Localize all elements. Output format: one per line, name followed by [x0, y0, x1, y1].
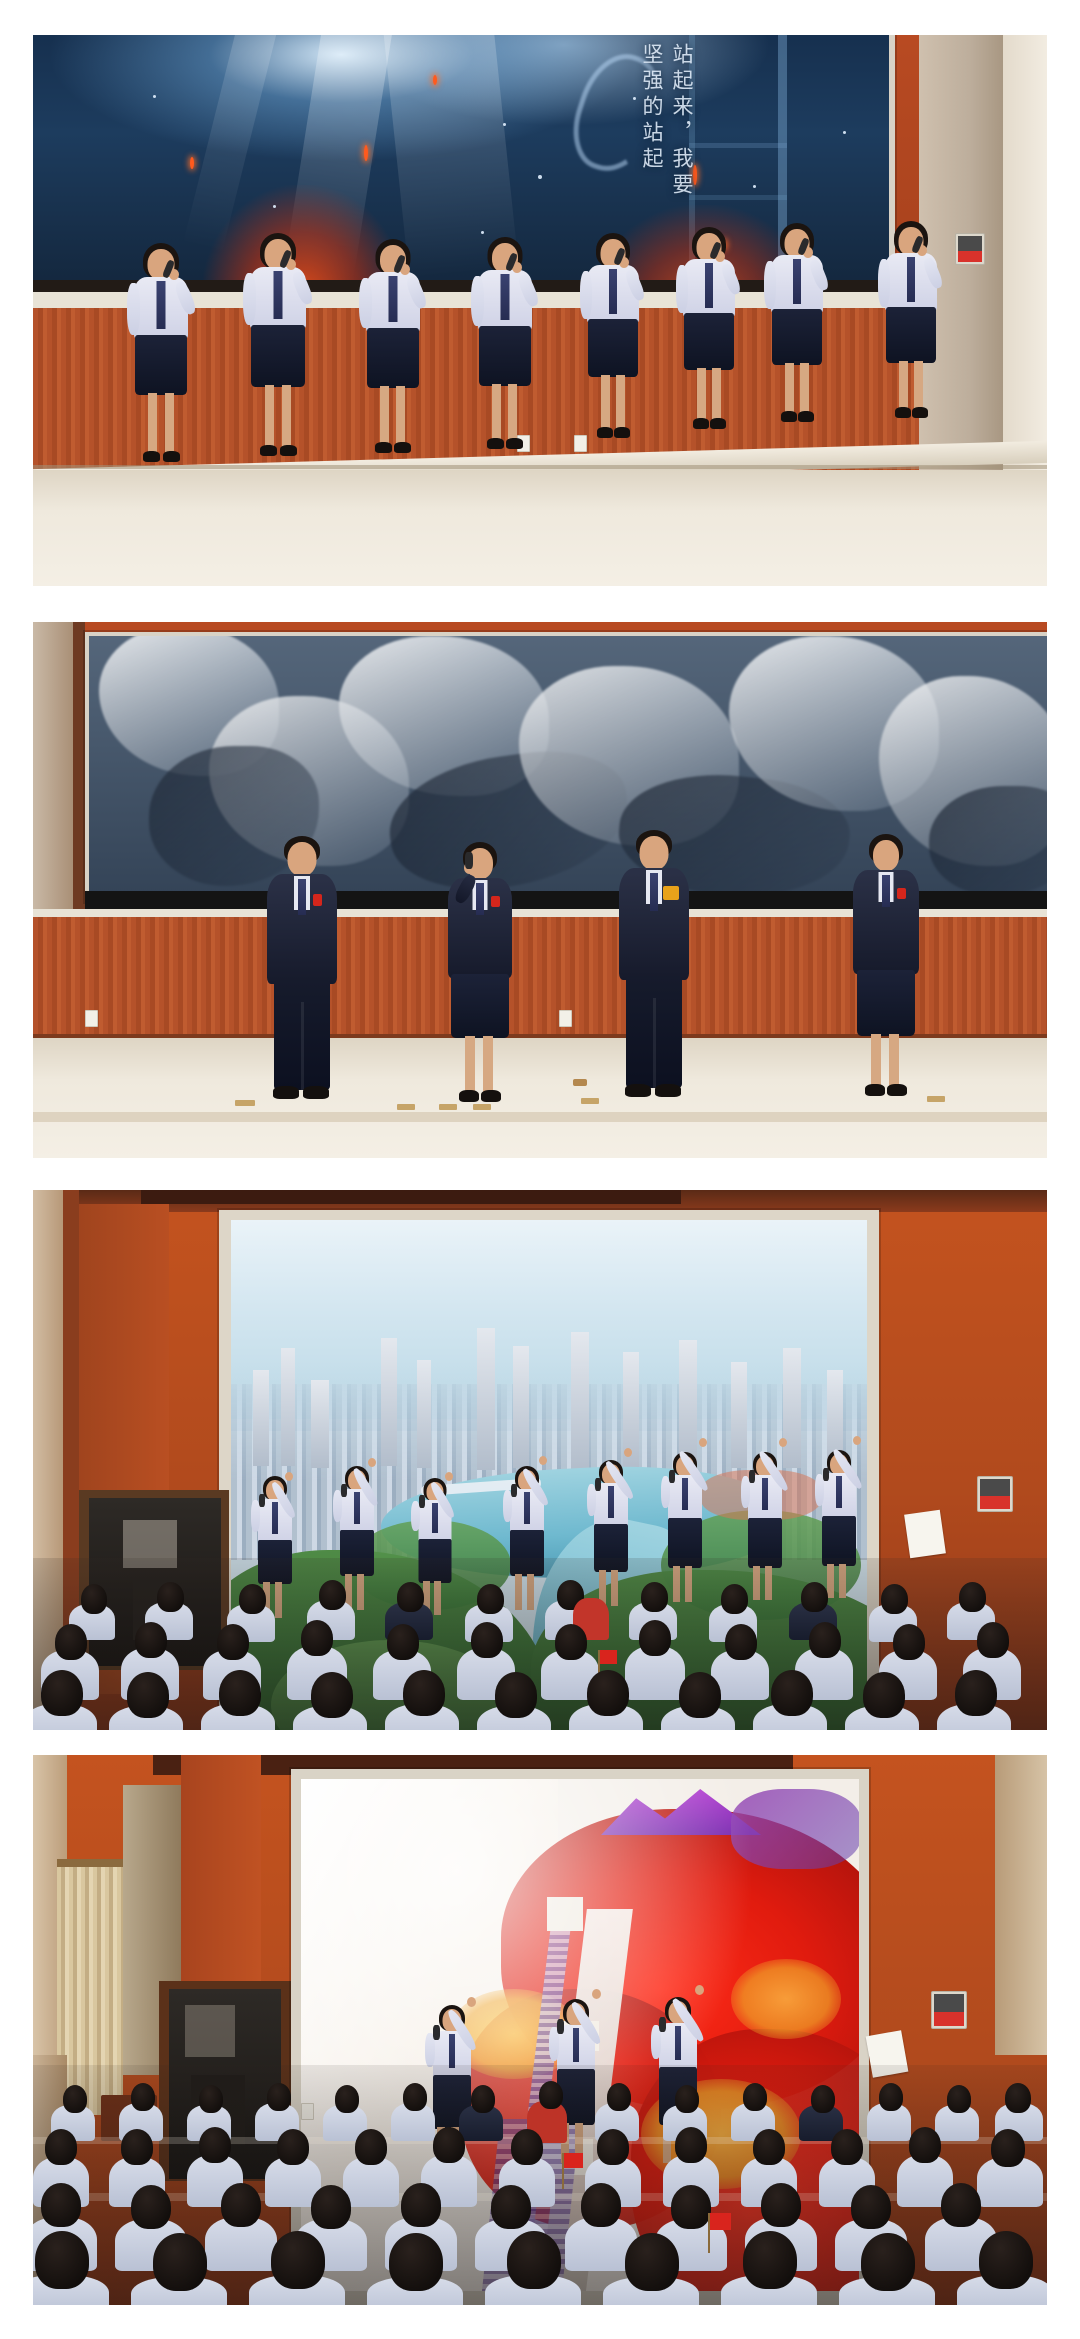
audience-head	[301, 1620, 333, 1656]
performer	[353, 233, 433, 483]
leg	[465, 1036, 475, 1094]
necktie	[354, 1492, 360, 1524]
floor-marker	[573, 1079, 587, 1086]
wall-left-edge	[73, 622, 85, 912]
trouser-crease	[653, 998, 656, 1088]
floor-marker	[397, 1104, 415, 1110]
audience-head	[471, 2085, 495, 2113]
audience-head	[319, 1580, 346, 1610]
device-display	[958, 236, 982, 252]
audience-head	[511, 2129, 543, 2165]
device-display	[980, 1479, 1010, 1497]
audience-head	[977, 1622, 1009, 1658]
leg	[914, 361, 923, 411]
audience-head	[555, 1624, 587, 1660]
hand	[853, 1436, 861, 1445]
microphone	[595, 1478, 601, 1491]
ceiling-dark-strip	[141, 1190, 681, 1204]
spark	[503, 123, 506, 126]
emergency-device-panel	[955, 233, 985, 265]
necktie	[836, 1476, 842, 1508]
leg	[380, 386, 389, 446]
ember	[364, 145, 368, 161]
device-display	[934, 1994, 964, 2013]
shoe	[597, 427, 613, 438]
shoe	[895, 407, 911, 418]
speaker	[843, 830, 929, 1120]
wall-left-pillar	[33, 622, 73, 912]
leg	[165, 393, 174, 455]
party-badge	[313, 894, 322, 906]
audience-head	[389, 2233, 443, 2291]
microphone	[669, 1470, 675, 1483]
arm	[676, 265, 688, 313]
shoe	[865, 1084, 885, 1096]
spark	[153, 95, 156, 98]
leg	[396, 386, 405, 446]
shoe	[506, 438, 523, 449]
performer	[465, 231, 545, 481]
audience-head	[879, 2083, 903, 2111]
performer	[669, 221, 749, 471]
audience-head	[45, 2129, 77, 2165]
skirt	[251, 325, 305, 387]
audience-head	[217, 1624, 249, 1660]
audience-head	[41, 1670, 83, 1716]
audience-head	[221, 2183, 261, 2227]
building	[253, 1370, 269, 1466]
paper-notice	[904, 1510, 946, 1559]
floor-marker	[235, 1100, 255, 1106]
audience-head	[127, 1672, 169, 1718]
shoe	[394, 442, 411, 453]
hand	[592, 1989, 601, 1999]
floor-marker	[927, 1096, 945, 1102]
audience-head	[753, 2129, 785, 2165]
wall-right-pillar	[995, 1755, 1047, 2055]
building	[571, 1332, 589, 1470]
necktie	[389, 276, 398, 322]
audience-head	[401, 2183, 441, 2227]
shoe	[614, 427, 630, 438]
audience-head	[991, 2129, 1025, 2167]
skirt	[886, 307, 936, 363]
leg	[492, 384, 501, 442]
scaffold-crossbar	[689, 195, 787, 200]
leg	[148, 393, 157, 455]
head	[288, 842, 317, 876]
scene-auditorium-with-audience	[33, 1190, 1047, 1730]
audience-head	[55, 1624, 87, 1660]
photo-3-eight-women-cityscape-screen-with-audience[interactable]	[33, 1190, 1047, 1730]
shoe	[303, 1086, 329, 1099]
audience-head	[507, 2231, 561, 2289]
audience-head	[81, 1584, 107, 1614]
shoe	[273, 1086, 299, 1099]
microphone	[341, 1484, 347, 1497]
audience-head	[761, 2183, 801, 2227]
shoe	[693, 418, 709, 429]
performer	[238, 227, 318, 477]
leg	[871, 1034, 881, 1088]
audience-head	[397, 1582, 424, 1612]
leg	[712, 368, 721, 422]
necktie	[449, 2034, 455, 2068]
leg	[889, 1034, 899, 1088]
device-red-label	[934, 2012, 964, 2026]
shoe	[143, 451, 160, 462]
microphone	[419, 1495, 425, 1508]
audience-head	[41, 2183, 81, 2227]
hand	[445, 1472, 453, 1481]
audience-head	[597, 2129, 629, 2165]
necktie	[573, 2028, 579, 2062]
arm	[471, 276, 484, 326]
arm	[764, 261, 776, 309]
audience-head	[63, 2085, 87, 2113]
floor-marker	[581, 1098, 599, 1104]
device-red-label	[980, 1496, 1010, 1509]
necktie	[608, 1486, 614, 1518]
audience-head	[271, 2231, 325, 2289]
screen-lyric-text: 站起来，我要坚强的站起	[637, 43, 697, 223]
emergency-device-panel	[977, 1476, 1013, 1512]
audience-head	[403, 2083, 427, 2111]
hand	[779, 1438, 787, 1447]
necktie	[650, 873, 658, 911]
audience-head	[355, 2129, 387, 2165]
leg	[508, 384, 517, 442]
audience-seating	[33, 1558, 1047, 1730]
ember	[433, 75, 437, 85]
audience-head	[625, 2233, 679, 2291]
audience-head	[743, 2083, 767, 2111]
audience-head	[861, 2233, 915, 2291]
audience-head	[725, 1624, 757, 1660]
microphone	[511, 1484, 517, 1497]
shoe	[912, 407, 928, 418]
audience-head	[941, 2183, 981, 2227]
audience-head	[199, 2085, 223, 2113]
spark	[273, 205, 276, 208]
skirt	[451, 974, 509, 1038]
audience-head	[947, 2085, 971, 2113]
shoe	[625, 1084, 651, 1097]
audience-head	[641, 1582, 668, 1612]
shoe	[375, 442, 392, 453]
wall-light-edge	[1003, 35, 1047, 505]
audience-row	[33, 2237, 1047, 2305]
shoe	[710, 418, 726, 429]
necktie	[793, 259, 801, 304]
audience-head	[743, 2231, 797, 2289]
leg	[282, 385, 291, 449]
medal-badge	[663, 886, 679, 900]
photo-4-three-women-great-wall-screen-with-audience[interactable]	[33, 1755, 1047, 2305]
curtain-rail	[57, 1859, 129, 1867]
performer	[573, 227, 653, 477]
audience-head	[35, 2231, 89, 2289]
audience-head	[267, 2083, 291, 2111]
power-socket	[85, 1010, 98, 1027]
skirt	[135, 335, 187, 395]
audience-head	[581, 2183, 621, 2227]
necktie	[609, 269, 617, 314]
building	[311, 1380, 329, 1468]
arm	[127, 283, 140, 335]
audience-head	[979, 2231, 1033, 2289]
audience-head	[539, 2081, 563, 2109]
necktie	[524, 1492, 530, 1524]
arm	[580, 271, 592, 319]
head	[873, 840, 899, 871]
speaker	[257, 832, 347, 1122]
necktie	[298, 879, 306, 915]
audience-head	[851, 2185, 891, 2229]
spark	[753, 185, 756, 188]
audience-seating	[33, 2065, 1047, 2305]
scaffold-crossbar	[689, 143, 787, 148]
skirt	[684, 313, 734, 370]
performer	[121, 235, 201, 485]
building	[477, 1328, 495, 1470]
photo-gallery: 站起来，我要坚强的站起	[0, 0, 1080, 2339]
building	[513, 1346, 529, 1468]
microphone	[557, 2019, 564, 2034]
head	[640, 836, 669, 870]
audience-head	[311, 1672, 353, 1718]
shoe	[487, 438, 504, 449]
leg	[785, 363, 794, 415]
necktie	[157, 281, 166, 329]
necktie	[272, 1502, 278, 1534]
necktie	[274, 271, 283, 319]
microphone	[259, 1494, 265, 1507]
audience-head	[959, 1582, 986, 1612]
chinese-flag	[563, 2153, 583, 2168]
arm	[359, 278, 372, 328]
skirt	[479, 326, 531, 386]
doorway-light	[185, 2005, 235, 2057]
audience-head	[491, 2185, 531, 2229]
audience-head	[403, 1670, 445, 1716]
chinese-flag	[599, 1650, 617, 1664]
skirt	[857, 970, 915, 1036]
photo-2-four-speakers-black-white-screen[interactable]	[33, 622, 1047, 1158]
audience-head	[955, 1670, 997, 1716]
spark	[843, 131, 846, 134]
hand	[285, 1472, 293, 1481]
audience-head	[157, 1582, 184, 1612]
audience-head	[607, 2083, 631, 2111]
arm	[878, 259, 890, 307]
audience-head	[135, 1622, 167, 1658]
shoe	[280, 445, 297, 456]
party-badge	[491, 896, 500, 907]
leg	[483, 1036, 493, 1094]
necktie	[705, 263, 713, 308]
speaker	[437, 838, 523, 1128]
leg	[265, 385, 274, 449]
microphone	[465, 852, 473, 869]
skirt	[772, 309, 822, 365]
leg	[800, 363, 809, 415]
scene-auditorium-stage: 站起来，我要坚强的站起	[33, 35, 1047, 586]
audience-head	[495, 1672, 537, 1718]
audience-head	[1005, 2083, 1031, 2113]
audience-head	[131, 2185, 171, 2229]
audience-head	[771, 1670, 813, 1716]
speaker	[609, 826, 699, 1116]
spark	[633, 97, 636, 100]
audience-head	[801, 1582, 828, 1612]
audience-head	[675, 2085, 699, 2113]
shoe	[655, 1084, 681, 1097]
leg	[601, 375, 610, 431]
skirt	[367, 328, 419, 388]
audience-head	[675, 2127, 707, 2163]
hand	[539, 1456, 547, 1465]
leg	[616, 375, 625, 431]
performer	[871, 215, 951, 465]
device-red-label	[958, 251, 982, 262]
audience-head	[809, 1622, 841, 1658]
hand	[699, 1438, 707, 1447]
audience-head	[893, 1624, 925, 1660]
audience-head	[909, 2127, 941, 2163]
shoe	[260, 445, 277, 456]
audience-row	[33, 1670, 1047, 1730]
shoe	[163, 451, 180, 462]
scene-auditorium-with-audience	[33, 1755, 1047, 2305]
shoe	[459, 1090, 479, 1102]
audience-head	[199, 2127, 231, 2163]
audience-head	[721, 1584, 748, 1614]
microphone	[823, 1468, 829, 1481]
hand	[624, 1448, 632, 1457]
building	[381, 1338, 397, 1466]
hand	[695, 1985, 704, 1995]
shoe	[798, 411, 814, 422]
necktie	[675, 2026, 681, 2060]
necktie	[501, 274, 510, 320]
stage-floor	[33, 470, 1047, 586]
trouser-crease	[301, 1002, 304, 1090]
audience-head	[471, 1622, 503, 1658]
leg	[899, 361, 908, 411]
audience-head	[477, 1584, 504, 1614]
shoe	[781, 411, 797, 422]
spark	[538, 175, 542, 179]
audience-head	[277, 2129, 309, 2165]
audience-head	[219, 1670, 261, 1716]
audience-head	[639, 1620, 671, 1656]
emergency-device-panel	[931, 1991, 967, 2029]
scene-auditorium-stage	[33, 622, 1047, 1158]
necktie	[882, 875, 890, 907]
arm	[243, 273, 256, 325]
necktie	[476, 883, 484, 915]
necktie	[682, 1478, 688, 1510]
performer	[757, 217, 837, 467]
audience-head	[881, 1584, 908, 1614]
audience-head	[131, 2083, 155, 2111]
audience-head	[831, 2129, 863, 2165]
hand	[368, 1458, 376, 1467]
power-socket	[559, 1010, 572, 1027]
shoe	[481, 1090, 501, 1102]
chinese-flag	[709, 2213, 731, 2230]
audience-head	[387, 1624, 419, 1660]
audience-head	[811, 2085, 835, 2113]
party-badge	[897, 888, 906, 899]
ember	[190, 157, 194, 169]
photo-1-eight-women-chorus-blue-screen[interactable]: 站起来，我要坚强的站起	[33, 35, 1047, 586]
skirt	[588, 319, 638, 377]
microphone	[749, 1470, 755, 1483]
leg	[697, 368, 706, 422]
audience-head	[239, 1584, 266, 1614]
audience-head	[153, 2233, 207, 2291]
shoe	[887, 1084, 907, 1096]
audience-head	[121, 2129, 153, 2165]
audience-head	[311, 2185, 351, 2229]
necktie	[907, 257, 915, 302]
audience-head	[863, 1672, 905, 1718]
necktie	[432, 1503, 438, 1533]
microphone	[433, 2025, 440, 2040]
audience-head	[671, 2185, 711, 2229]
microphone	[659, 2017, 666, 2032]
audience-head	[335, 2085, 359, 2113]
audience-head	[433, 2127, 465, 2163]
audience-head	[587, 1670, 629, 1716]
building	[417, 1360, 431, 1468]
building	[281, 1348, 295, 1466]
audience-head	[679, 1672, 721, 1718]
hand	[467, 1997, 476, 2007]
necktie	[762, 1478, 768, 1510]
